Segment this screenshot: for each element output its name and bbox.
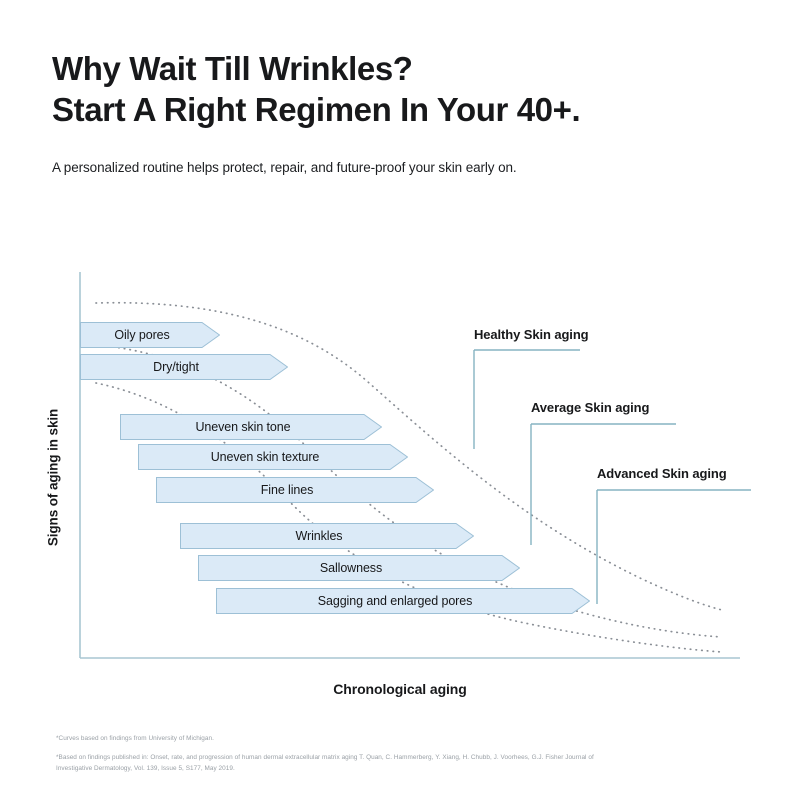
legend-label-advanced-skin-aging: Advanced Skin aging [597,466,727,481]
skin-aging-chart: Signs of aging in skin Chronological agi… [0,0,800,800]
bar-sallowness: Sallowness [198,555,520,581]
bar-fine-lines: Fine lines [156,477,434,503]
bar-label: Sagging and enlarged pores [318,594,488,608]
bar-sagging-and-enlarged-pores: Sagging and enlarged pores [216,588,590,614]
legend-label-average-skin-aging: Average Skin aging [531,400,649,415]
x-axis-title: Chronological aging [80,681,720,697]
bar-label: Uneven skin texture [211,450,336,464]
bar-wrinkles: Wrinkles [180,523,474,549]
bar-dry-tight: Dry/tight [80,354,288,380]
bar-uneven-skin-tone: Uneven skin tone [120,414,382,440]
bar-uneven-skin-texture: Uneven skin texture [138,444,408,470]
bar-label: Fine lines [261,483,330,497]
bar-label: Oily pores [114,328,185,342]
footnote-source-michigan: *Curves based on findings from Universit… [56,733,616,744]
bar-label: Sallowness [320,561,398,575]
infographic-page: Why Wait Till Wrinkles? Start A Right Re… [0,0,800,800]
legend-label-healthy-skin-aging: Healthy Skin aging [474,327,589,342]
bar-label: Wrinkles [296,529,359,543]
bar-oily-pores: Oily pores [80,322,220,348]
chart-canvas [0,0,800,800]
y-axis-title: Signs of aging in skin [46,378,61,578]
footnote-source-publication: *Based on findings published in: Onset, … [56,752,616,774]
bar-label: Dry/tight [153,360,215,374]
bar-label: Uneven skin tone [196,420,307,434]
